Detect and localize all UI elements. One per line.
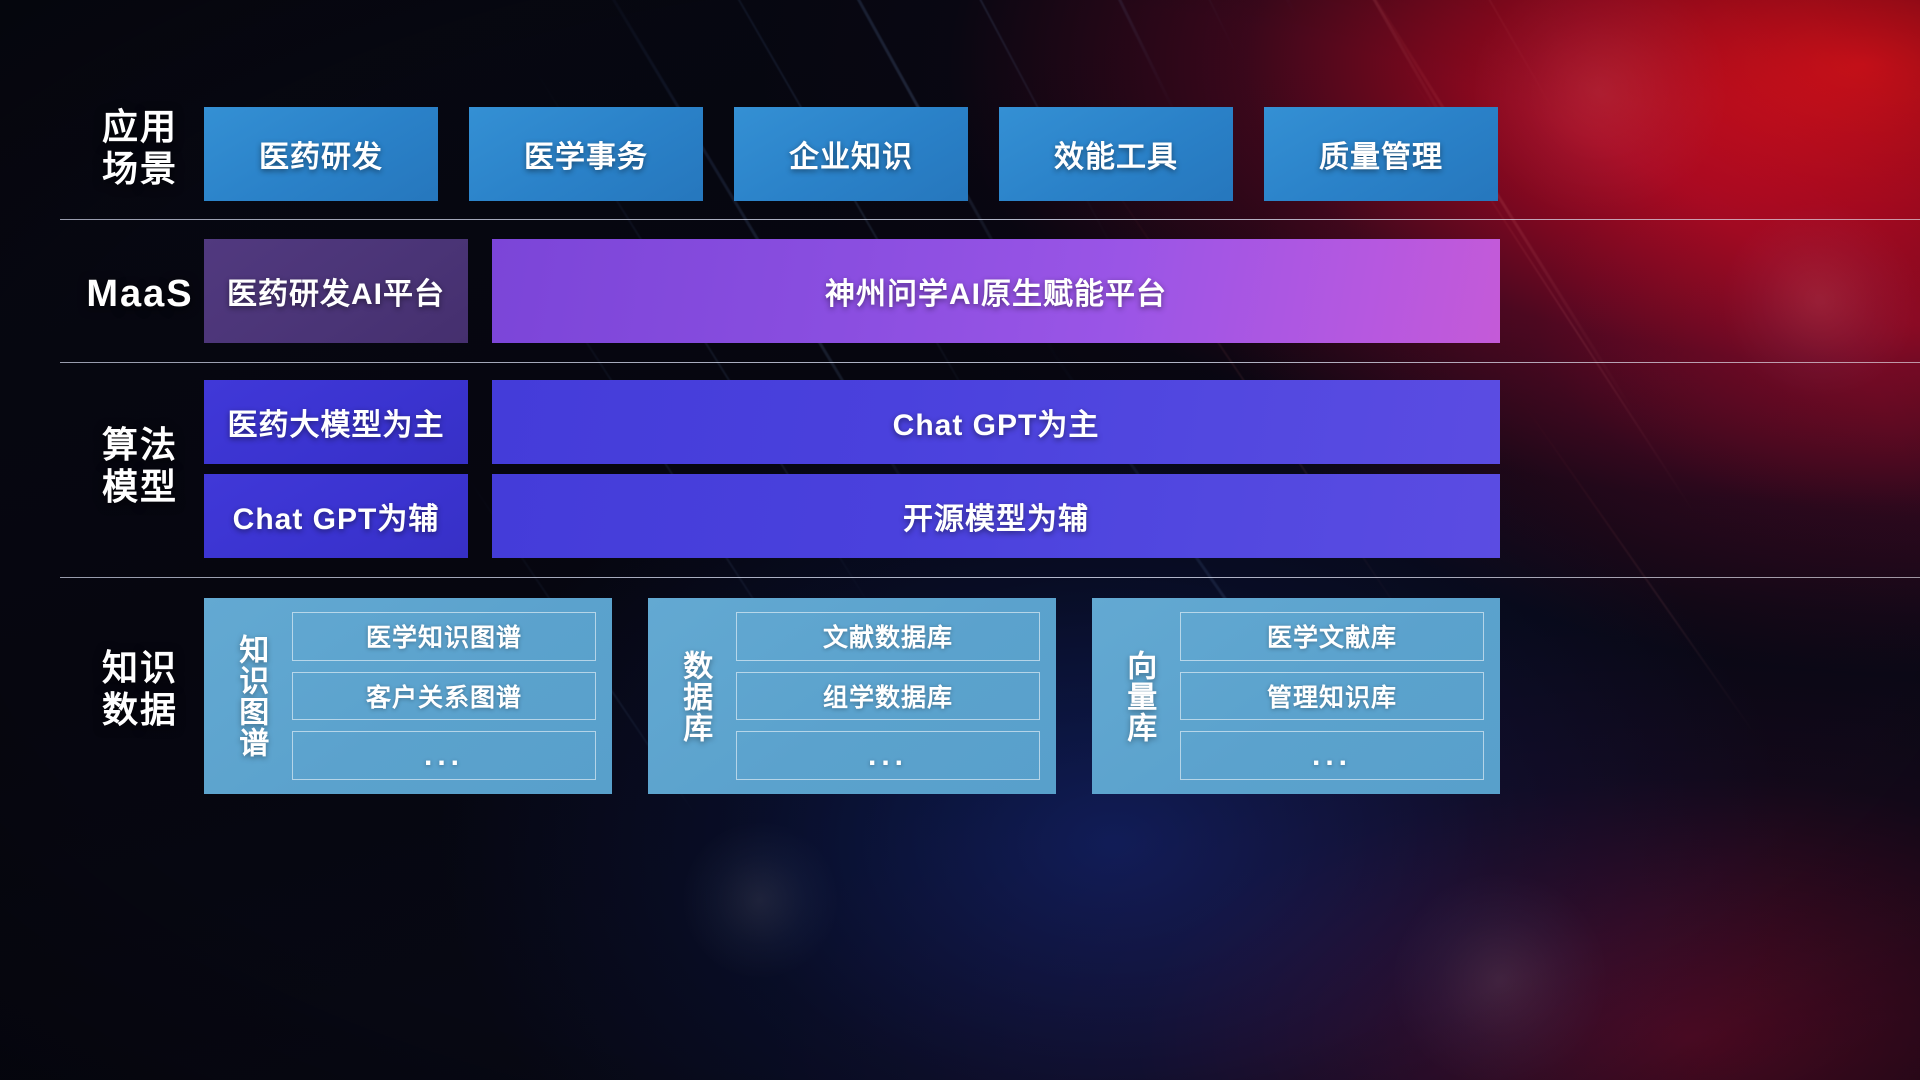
knowledge-panel-vertical-label-2: 数据库 <box>658 612 730 780</box>
knowledge-panel-items-2: 文献数据库 组学数据库 ... <box>730 612 1040 780</box>
algorithm-label-primary-left: 医药大模型为主 <box>228 400 445 444</box>
knowledge-item-1-3[interactable]: ... <box>292 731 596 780</box>
app-scenario-label-5: 质量管理 <box>1319 132 1443 176</box>
divider-2 <box>60 362 1920 363</box>
algorithm-box-primary-left[interactable]: 医药大模型为主 <box>204 380 468 464</box>
algorithm-label-secondary-left: Chat GPT为辅 <box>233 494 440 538</box>
algorithm-box-secondary-right[interactable]: 开源模型为辅 <box>492 474 1500 558</box>
knowledge-item-2-1[interactable]: 文献数据库 <box>736 612 1040 661</box>
app-scenario-label-1: 医药研发 <box>259 132 383 176</box>
knowledge-item-2-3[interactable]: ... <box>736 731 1040 780</box>
knowledge-item-3-3[interactable]: ... <box>1180 731 1484 780</box>
app-scenario-box-3[interactable]: 企业知识 <box>734 107 968 201</box>
tier-label-application-scenarios: 应用 场景 <box>60 106 220 191</box>
app-scenario-box-4[interactable]: 效能工具 <box>999 107 1233 201</box>
maas-platform-label-internal: 医药研发AI平台 <box>227 269 445 313</box>
divider-1 <box>60 219 1920 220</box>
knowledge-item-2-2[interactable]: 组学数据库 <box>736 672 1040 721</box>
tier-label-knowledge-data: 知识 数据 <box>60 647 220 732</box>
diagram-root: 应用 场景 医药研发 医学事务 企业知识 效能工具 质量管理 MaaS 医药研发… <box>0 0 1920 1080</box>
knowledge-item-3-2[interactable]: 管理知识库 <box>1180 672 1484 721</box>
knowledge-panel-items-1: 医学知识图谱 客户关系图谱 ... <box>286 612 596 780</box>
app-scenario-label-4: 效能工具 <box>1054 132 1178 176</box>
knowledge-panel-vector-store[interactable]: 向量库 医学文献库 管理知识库 ... <box>1092 598 1500 794</box>
knowledge-panel-vertical-label-1: 知识图谱 <box>214 612 286 780</box>
app-scenario-label-2: 医学事务 <box>524 132 648 176</box>
tier-label-maas: MaaS <box>60 272 220 317</box>
knowledge-panel-knowledge-graph[interactable]: 知识图谱 医学知识图谱 客户关系图谱 ... <box>204 598 612 794</box>
knowledge-item-1-1[interactable]: 医学知识图谱 <box>292 612 596 661</box>
divider-3 <box>60 577 1920 578</box>
maas-platform-label-main: 神州问学AI原生赋能平台 <box>825 269 1167 313</box>
algorithm-box-primary-right[interactable]: Chat GPT为主 <box>492 380 1500 464</box>
algorithm-label-secondary-right: 开源模型为辅 <box>903 494 1089 538</box>
app-scenario-box-1[interactable]: 医药研发 <box>204 107 438 201</box>
maas-platform-box-internal[interactable]: 医药研发AI平台 <box>204 239 468 343</box>
knowledge-item-1-2[interactable]: 客户关系图谱 <box>292 672 596 721</box>
algorithm-box-secondary-left[interactable]: Chat GPT为辅 <box>204 474 468 558</box>
knowledge-panel-items-3: 医学文献库 管理知识库 ... <box>1174 612 1484 780</box>
app-scenario-box-5[interactable]: 质量管理 <box>1264 107 1498 201</box>
app-scenario-box-2[interactable]: 医学事务 <box>469 107 703 201</box>
maas-platform-box-main[interactable]: 神州问学AI原生赋能平台 <box>492 239 1500 343</box>
app-scenario-label-3: 企业知识 <box>789 132 913 176</box>
tier-label-algorithm-model: 算法 模型 <box>60 424 220 509</box>
knowledge-panel-database[interactable]: 数据库 文献数据库 组学数据库 ... <box>648 598 1056 794</box>
algorithm-label-primary-right: Chat GPT为主 <box>893 400 1100 444</box>
knowledge-item-3-1[interactable]: 医学文献库 <box>1180 612 1484 661</box>
knowledge-panel-vertical-label-3: 向量库 <box>1102 612 1174 780</box>
